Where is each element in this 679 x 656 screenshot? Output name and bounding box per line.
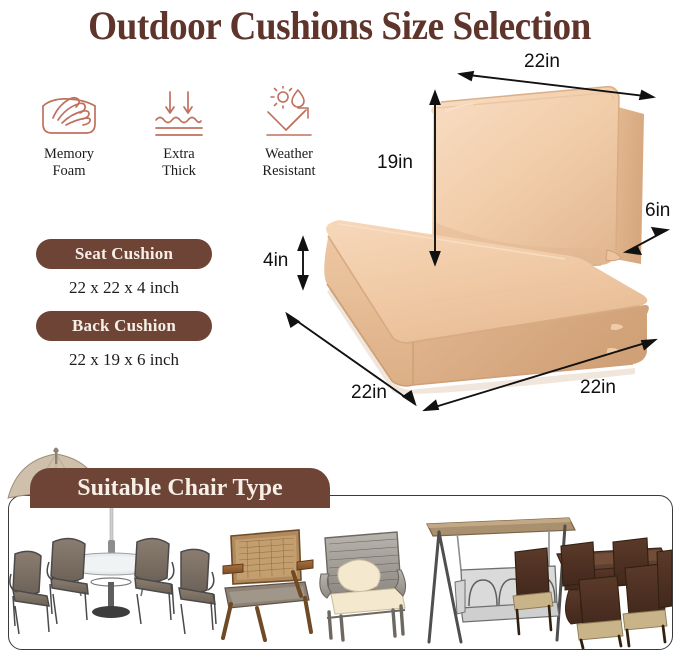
chair-item-wood-rattan-lounge <box>223 530 313 640</box>
chair-item-brown-wicker-dining-set <box>513 538 672 648</box>
dimension-back-width: 22in <box>524 51 560 73</box>
chair-item-patio-dining-set <box>10 504 216 634</box>
chair-item-gray-wicker-armchair <box>320 532 406 640</box>
feature-memory-foam: Memory Foam <box>14 84 124 180</box>
dimension-seat-height: 4in <box>263 250 288 272</box>
chair-item-canopy-porch-swing <box>427 518 575 642</box>
back-cushion-dimensions: 22 x 19 x 6 inch <box>24 350 224 370</box>
dimension-back-thickness: 6in <box>645 200 670 222</box>
feature-label: Extra Thick <box>124 146 234 180</box>
page-title: Outdoor Cushions Size Selection <box>24 2 655 49</box>
dimension-seat-depth: 22in <box>580 377 616 399</box>
cushion-size-diagram: 22in 19in 6in 4in 22in 22in <box>255 52 679 437</box>
back-cushion-pill[interactable]: Back Cushion <box>36 311 212 341</box>
suitable-chair-panel <box>8 495 673 650</box>
dimension-back-height: 19in <box>377 152 413 174</box>
down-arrows-layers-icon <box>124 84 234 142</box>
seat-cushion-pill[interactable]: Seat Cushion <box>36 239 212 269</box>
suitable-chair-type-banner: Suitable Chair Type <box>30 468 330 508</box>
chair-illustrations <box>9 496 672 649</box>
seat-cushion-dimensions: 22 x 22 x 4 inch <box>24 278 224 298</box>
dimension-seat-width: 22in <box>351 382 387 404</box>
feature-extra-thick: Extra Thick <box>124 84 234 180</box>
feature-label: Memory Foam <box>14 146 124 180</box>
hand-press-foam-icon <box>14 84 124 142</box>
